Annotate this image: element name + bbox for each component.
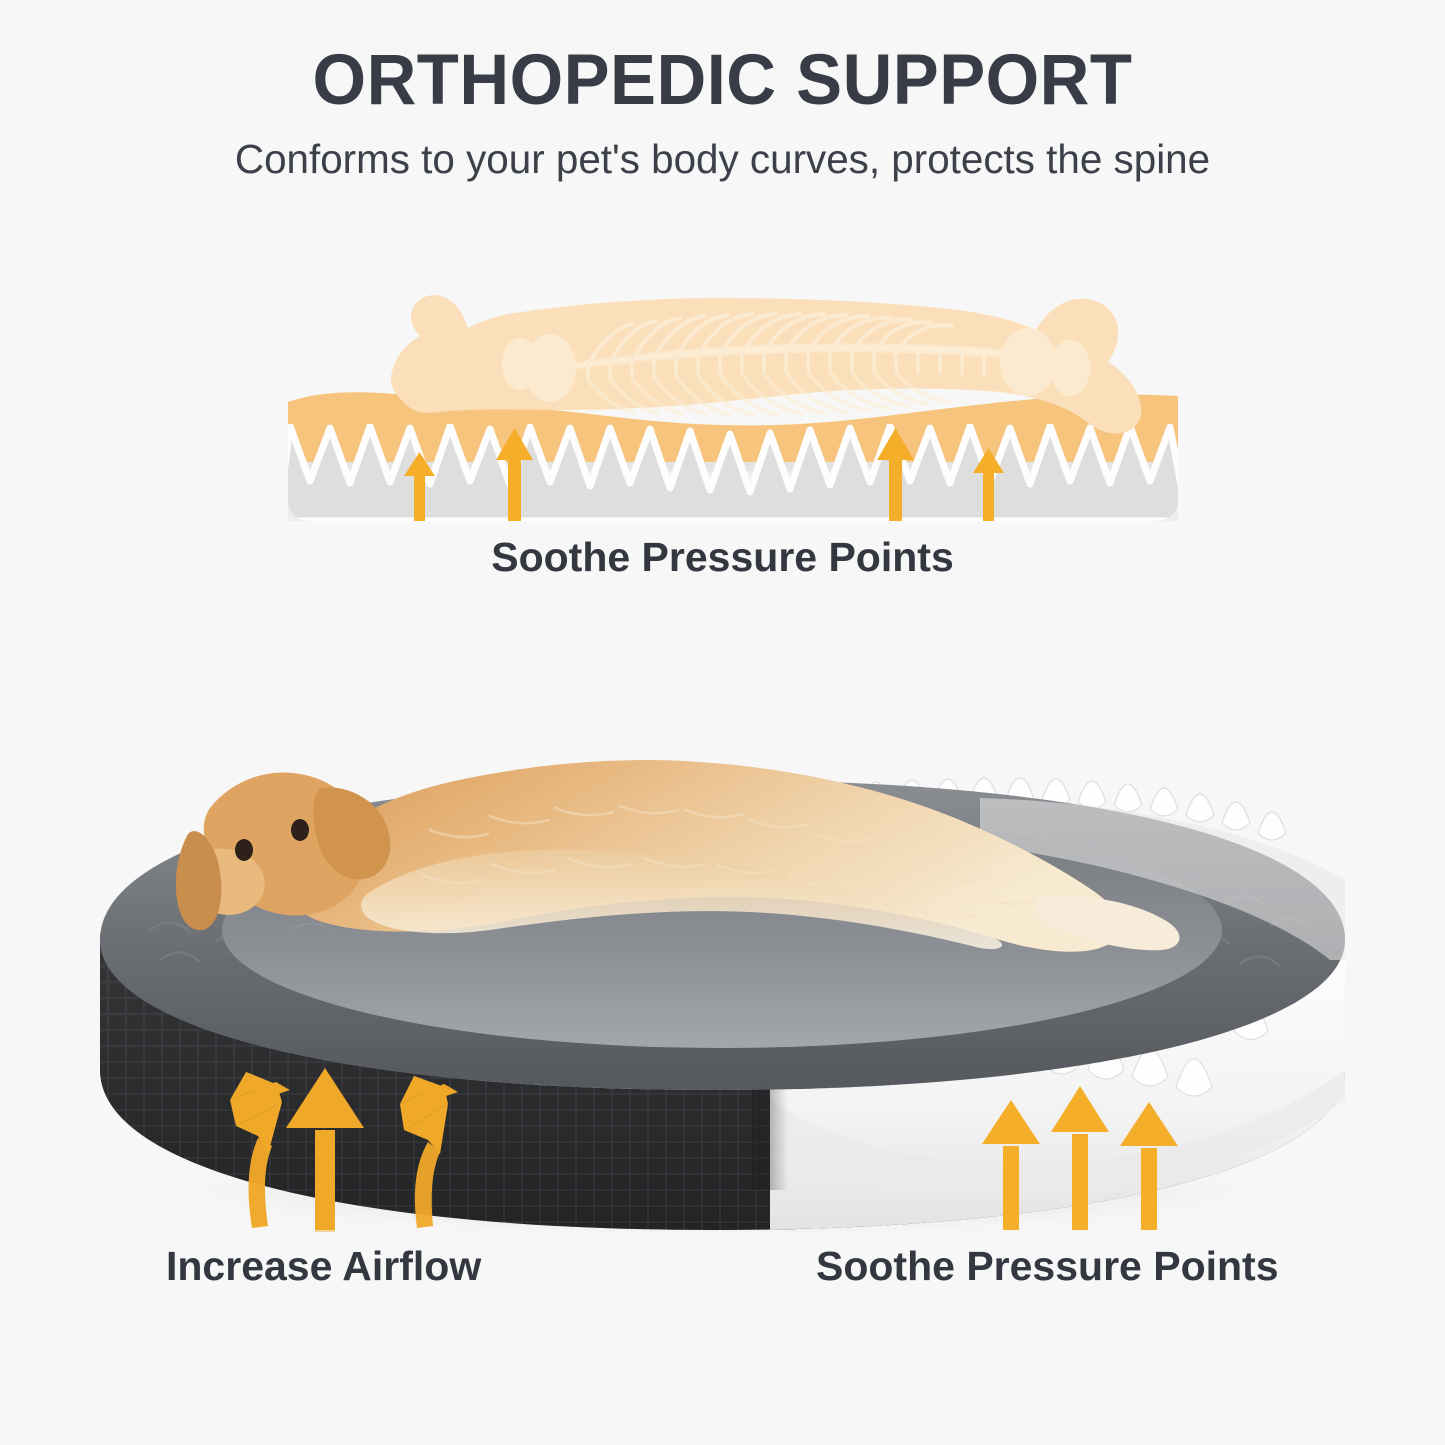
- bottom-labels: Increase Airflow Soothe Pressure Points: [0, 1243, 1445, 1303]
- label-increase-airflow: Increase Airflow: [166, 1243, 481, 1290]
- diagram-caption: Soothe Pressure Points: [0, 534, 1445, 581]
- pressure-arrows-product: [982, 1086, 1178, 1230]
- product-photo: [0, 630, 1445, 1250]
- dog-eye-right: [291, 819, 309, 841]
- page-subtitle: Conforms to your pet's body curves, prot…: [11, 137, 1434, 182]
- page-title: ORTHOPEDIC SUPPORT: [22, 44, 1424, 119]
- foam-cross-section-diagram: [288, 276, 1178, 521]
- label-soothe-pressure-points: Soothe Pressure Points: [816, 1243, 1279, 1290]
- header: ORTHOPEDIC SUPPORT Conforms to your pet'…: [0, 44, 1445, 182]
- dog-eye-left: [235, 839, 253, 861]
- infographic-page: ORTHOPEDIC SUPPORT Conforms to your pet'…: [0, 0, 1445, 1445]
